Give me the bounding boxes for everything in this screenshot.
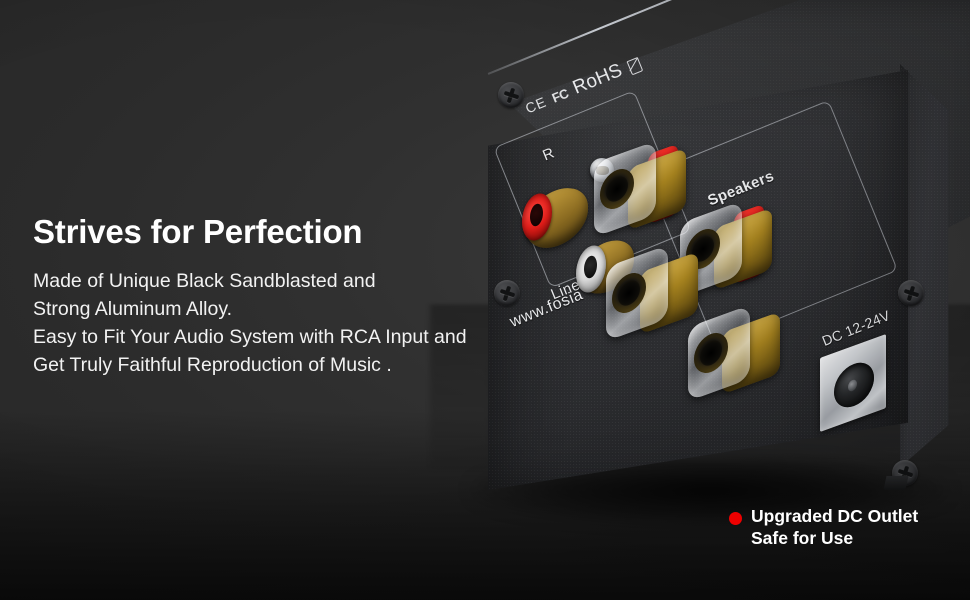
body-line: Get Truly Faithful Reproduction of Music… [33,352,503,380]
product-banner: www.fosiaudio.com Line In CE FC RoHS R L [0,0,970,600]
callout-line: Safe for Use [751,528,918,550]
feature-callout: Upgraded DC Outlet Safe for Use [729,506,918,549]
callout-line: Upgraded DC Outlet [751,506,918,528]
body-line: Made of Unique Black Sandblasted and [33,268,503,296]
page-title: Strives for Perfection [33,214,503,250]
marketing-copy-block: Strives for Perfection Made of Unique Bl… [33,214,503,380]
marketing-body-text: Made of Unique Black Sandblasted and Str… [33,268,503,380]
body-line: Easy to Fit Your Audio System with RCA I… [33,324,503,352]
body-line: Strong Aluminum Alloy. [33,296,503,324]
feature-callout-text: Upgraded DC Outlet Safe for Use [751,506,918,549]
bullet-dot-icon [729,512,742,525]
